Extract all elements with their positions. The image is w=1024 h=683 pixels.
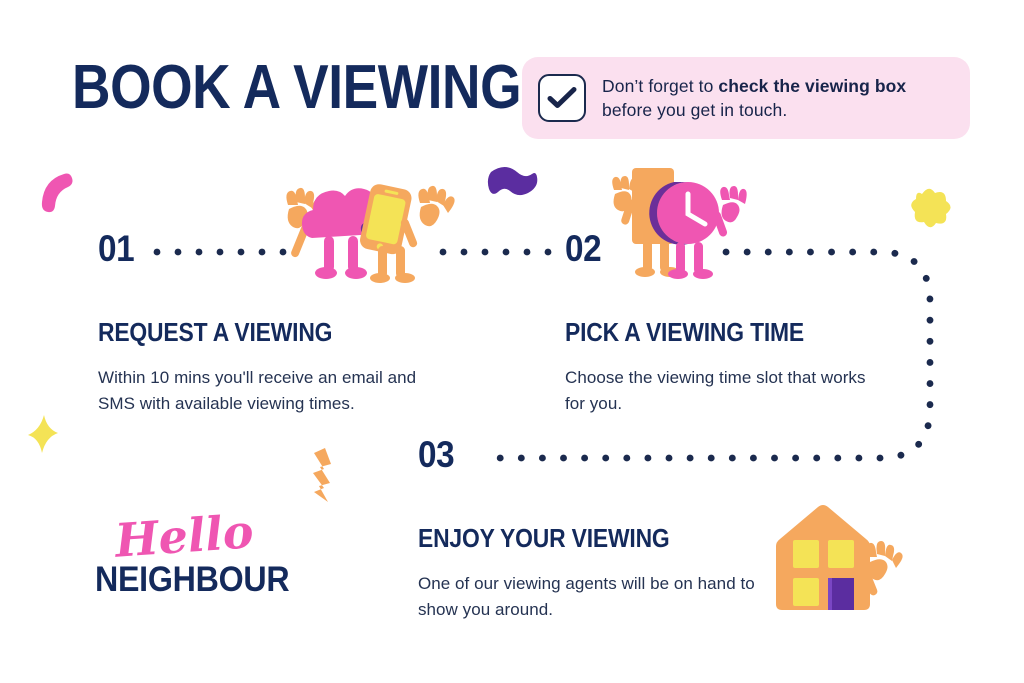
- callout-text-tail: before you get in touch.: [602, 100, 787, 120]
- step-body: One of our viewing agents will be on han…: [418, 571, 758, 623]
- yellow-sparkle-confetti: [28, 415, 58, 453]
- checkbox-checked-icon[interactable]: [538, 74, 586, 122]
- house-illustration: [776, 505, 903, 610]
- dotted-connector-step1-to-step2: [440, 249, 552, 256]
- step-01: 01 REQUEST A VIEWING Within 10 mins you'…: [98, 230, 428, 417]
- step-02: 02 PICK A VIEWING TIME Choose the viewin…: [565, 230, 885, 417]
- infographic-canvas: BOOK A VIEWING Don’t forget to check the…: [0, 0, 1024, 683]
- pink-curve-confetti: [42, 174, 73, 213]
- step-number: 01: [98, 230, 395, 267]
- step-body: Choose the viewing time slot that works …: [565, 365, 885, 417]
- page-title: BOOK A VIEWING: [72, 57, 521, 119]
- step-number: 03: [418, 436, 724, 473]
- viewing-box-callout: Don’t forget to check the viewing box be…: [522, 57, 970, 139]
- step-heading: PICK A VIEWING TIME: [565, 319, 847, 345]
- step-body: Within 10 mins you'll receive an email a…: [98, 365, 428, 417]
- step-heading: REQUEST A VIEWING: [98, 319, 388, 345]
- step-heading: ENJOY YOUR VIEWING: [418, 525, 717, 551]
- brand-logo: Hello NEIGHBOUR: [95, 512, 275, 612]
- callout-text: Don’t forget to check the viewing box be…: [602, 74, 952, 122]
- logo-block-word: NEIGHBOUR: [95, 562, 289, 598]
- orange-zigzag-confetti: [313, 448, 331, 502]
- waving-hand-icon: [861, 541, 902, 597]
- yellow-flower-confetti: [911, 189, 950, 228]
- logo-script-word: Hello: [113, 507, 254, 565]
- step-number: 02: [565, 230, 853, 267]
- purple-ribbon-confetti: [488, 167, 537, 195]
- step-03: 03 ENJOY YOUR VIEWING One of our viewing…: [418, 436, 758, 623]
- callout-text-bold: check the viewing box: [718, 76, 906, 96]
- callout-text-lead: Don’t forget to: [602, 76, 718, 96]
